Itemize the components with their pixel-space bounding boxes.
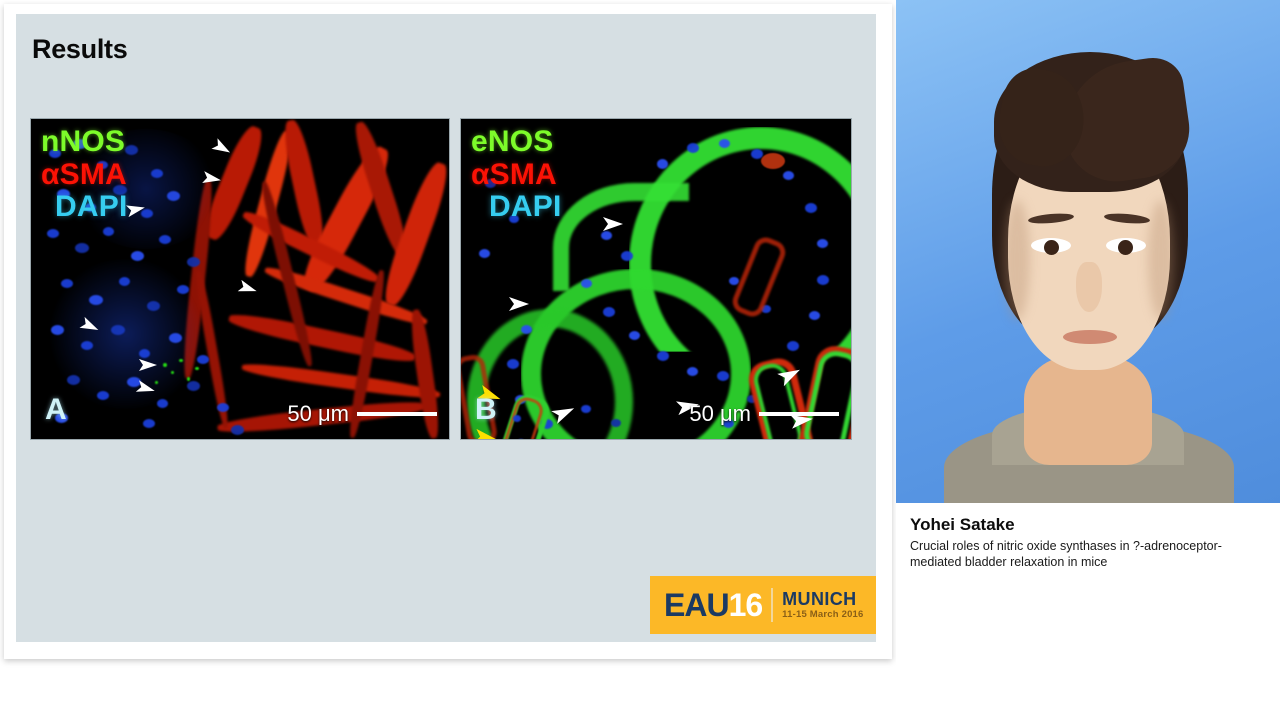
photo-face-shadow-right <box>1148 200 1174 320</box>
logo-divider <box>771 588 773 622</box>
channel-label-dapi: DAPI <box>471 192 561 223</box>
photo-nose <box>1076 262 1102 312</box>
eau-congress-logo: EAU16 MUNICH 11-15 March 2016 <box>650 576 876 634</box>
panel-a-channel-labels: nNOS αSMA DAPI <box>41 127 127 225</box>
logo-city: MUNICH <box>782 590 863 609</box>
logo-year: 16 <box>729 587 763 623</box>
micrograph-panel-b[interactable]: eNOS αSMA DAPI B 50 μm <box>460 118 852 440</box>
slide-canvas: Results <box>16 14 876 642</box>
speaker-info: Yohei Satake Crucial roles of nitric oxi… <box>896 503 1280 571</box>
micrograph-panel-a[interactable]: nNOS αSMA DAPI A 50 μm <box>30 118 450 440</box>
slide-frame: Results <box>0 0 896 663</box>
scale-bar-line <box>357 412 437 416</box>
arrow-marker <box>603 215 627 233</box>
panel-b-channel-labels: eNOS αSMA DAPI <box>471 127 561 225</box>
channel-label-asma: αSMA <box>471 160 561 191</box>
speaker-panel: Yohei Satake Crucial roles of nitric oxi… <box>896 0 1280 720</box>
photo-iris-left <box>1044 240 1059 255</box>
arrow-marker <box>509 295 533 313</box>
channel-label-nnos: nNOS <box>41 127 127 158</box>
logo-brand: EAU16 <box>664 589 762 621</box>
logo-dates: 11-15 March 2016 <box>782 609 863 620</box>
scale-bar-b: 50 μm <box>689 401 839 427</box>
panel-letter-b: B <box>475 393 497 427</box>
photo-mouth <box>1063 330 1117 344</box>
panel-letter-a: A <box>45 393 67 427</box>
presentation-viewer: Results <box>0 0 1280 720</box>
scale-bar-a: 50 μm <box>287 401 437 427</box>
speaker-photo <box>896 0 1280 503</box>
scale-bar-label: 50 μm <box>689 401 751 427</box>
channel-label-asma: αSMA <box>41 160 127 191</box>
photo-neck <box>1024 355 1152 465</box>
speaker-talk-title: Crucial roles of nitric oxide synthases … <box>910 539 1266 570</box>
scale-bar-line <box>759 412 839 416</box>
arrow-marker <box>139 357 161 373</box>
logo-details: MUNICH 11-15 March 2016 <box>782 590 863 621</box>
channel-label-dapi: DAPI <box>41 192 127 223</box>
channel-label-enos: eNOS <box>471 127 561 158</box>
speaker-name: Yohei Satake <box>910 515 1266 535</box>
photo-iris-right <box>1118 240 1133 255</box>
slide-title: Results <box>32 34 127 65</box>
logo-brand-text: EAU <box>664 587 729 623</box>
scale-bar-label: 50 μm <box>287 401 349 427</box>
photo-face-shadow-left <box>1004 200 1030 320</box>
